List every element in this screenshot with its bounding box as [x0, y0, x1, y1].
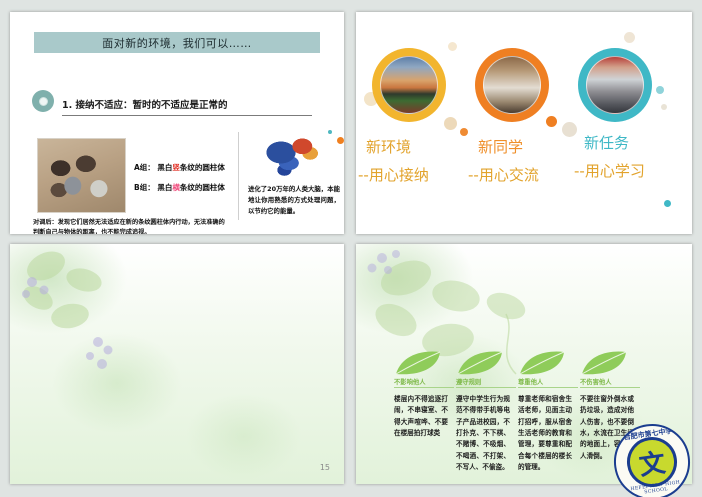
ring-new-environment [372, 48, 446, 122]
group-b-line: B组： 黑白横条纹的圆柱体 [134, 182, 225, 193]
ring-new-classmates [475, 48, 549, 122]
slide-adapt-title: 面对新的环境，我们可以…… [102, 35, 252, 51]
group-a-highlight: 竖 [172, 163, 180, 172]
photo-circle-new-tasks[interactable] [578, 48, 652, 122]
vine-decoration-left [12, 246, 162, 386]
dorm-label-follow-rules: 遵守规则 [456, 377, 516, 388]
kitten-caption: 对调后：发现它们居然无法适应在新的条纹圆柱体内行动，无法准确的判断自己与物体的距… [33, 218, 229, 234]
kitten-photo [37, 138, 126, 213]
slide-safety: 安全的注意要点 防火 不要将打火机、火柴、易燃物品、化学药品带入在宿舍内；不要在… [10, 244, 344, 484]
brain-caption: 进化了20万年的人类大脑，本能地让你用熟悉的方式处理问题，以节约它的能量。 [248, 184, 340, 218]
slide-three-new: 新环境 --用心接纳 新同学 --用心交流 新任务 --用心学习 [356, 12, 692, 234]
photo-circle-new-environment[interactable] [372, 48, 446, 122]
photo-new-tasks [586, 56, 644, 114]
leaf-icon [518, 350, 566, 376]
caption-title-new-tasks: 新任务 [584, 132, 629, 153]
caption-title-new-classmates: 新同学 [478, 136, 523, 157]
decor-circle-7 [624, 32, 635, 43]
dorm-body-no-disturb: 楼层内不得追逐打闹，不串寝室、不得大声喧哗、不要在楼层拍打球类 [394, 394, 448, 439]
group-a-line: A组： 黑白竖条纹的圆柱体 [134, 162, 225, 173]
leaf-icon [580, 350, 628, 376]
decor-circle-2 [448, 42, 457, 51]
dorm-item-no-disturb: 不影响他人 楼层内不得追逐打闹，不串寝室、不得大声喧哗、不要在楼层拍打球类 [394, 350, 454, 439]
dorm-label-no-harm: 不伤害他人 [580, 377, 640, 388]
group-b-suffix: 条纹的圆柱体 [180, 183, 225, 192]
dorm-body-follow-rules: 遵守中学生行为规范不得带手机等电子产品进校园，不打扑克、不下棋、不赌博、不吸烟、… [456, 394, 510, 473]
decor-circle-6 [562, 122, 577, 137]
page-number: 15 [320, 463, 330, 472]
group-b-highlight: 横 [172, 183, 180, 192]
dorm-label-no-disturb: 不影响他人 [394, 377, 454, 388]
dorm-label-respect: 尊重他人 [518, 377, 578, 388]
decor-circle-4 [460, 128, 468, 136]
decor-circle-9 [661, 104, 667, 110]
slide-grid-page: 面对新的环境，我们可以…… 1. 接纳不适应：暂时的不适应是正常的 A组： 黑白… [0, 0, 702, 497]
photo-circle-new-classmates[interactable] [475, 48, 549, 122]
slide-adapt: 面对新的环境，我们可以…… 1. 接纳不适应：暂时的不适应是正常的 A组： 黑白… [10, 12, 344, 234]
decor-circle-10 [664, 200, 671, 207]
slide-adapt-subheading: 1. 接纳不适应：暂时的不适应是正常的 [62, 93, 312, 116]
caption-subtitle-new-tasks: --用心学习 [574, 160, 645, 181]
decor-circle-8 [656, 86, 664, 94]
photo-new-environment [380, 56, 438, 114]
brain-illustration [262, 134, 318, 178]
leaf-icon [456, 350, 504, 376]
bullet-marker-icon [32, 90, 54, 112]
dorm-item-respect: 尊重他人 尊重老师和宿舍生活老师，见面主动打招呼，服从宿舍生活老师的教育和管理，… [518, 350, 578, 473]
group-a-suffix: 条纹的圆柱体 [180, 163, 225, 172]
leaf-icon [394, 350, 442, 376]
dorm-item-follow-rules: 遵守规则 遵守中学生行为规范不得带手机等电子产品进校园，不打扑克、不下棋、不赌博… [456, 350, 516, 473]
dorm-body-respect: 尊重老师和宿舍生活老师，见面主动打招呼，服从宿舍生活老师的教育和管理，要尊重和配… [518, 394, 572, 473]
caption-subtitle-new-environment: --用心接纳 [358, 164, 429, 185]
vertical-divider [238, 132, 239, 220]
slide-adapt-subheading-text: 1. 接纳不适应：暂时的不适应是正常的 [62, 100, 228, 111]
slide-adapt-title-bar: 面对新的环境，我们可以…… [34, 32, 320, 53]
orange-dot-decoration [337, 137, 344, 144]
ring-new-tasks [578, 48, 652, 122]
group-a-prefix: A组： 黑白 [134, 163, 172, 172]
group-b-prefix: B组： 黑白 [134, 183, 172, 192]
caption-title-new-environment: 新环境 [366, 136, 411, 157]
teal-dot-decoration [328, 130, 332, 134]
caption-subtitle-new-classmates: --用心交流 [468, 164, 539, 185]
photo-new-classmates [483, 56, 541, 114]
